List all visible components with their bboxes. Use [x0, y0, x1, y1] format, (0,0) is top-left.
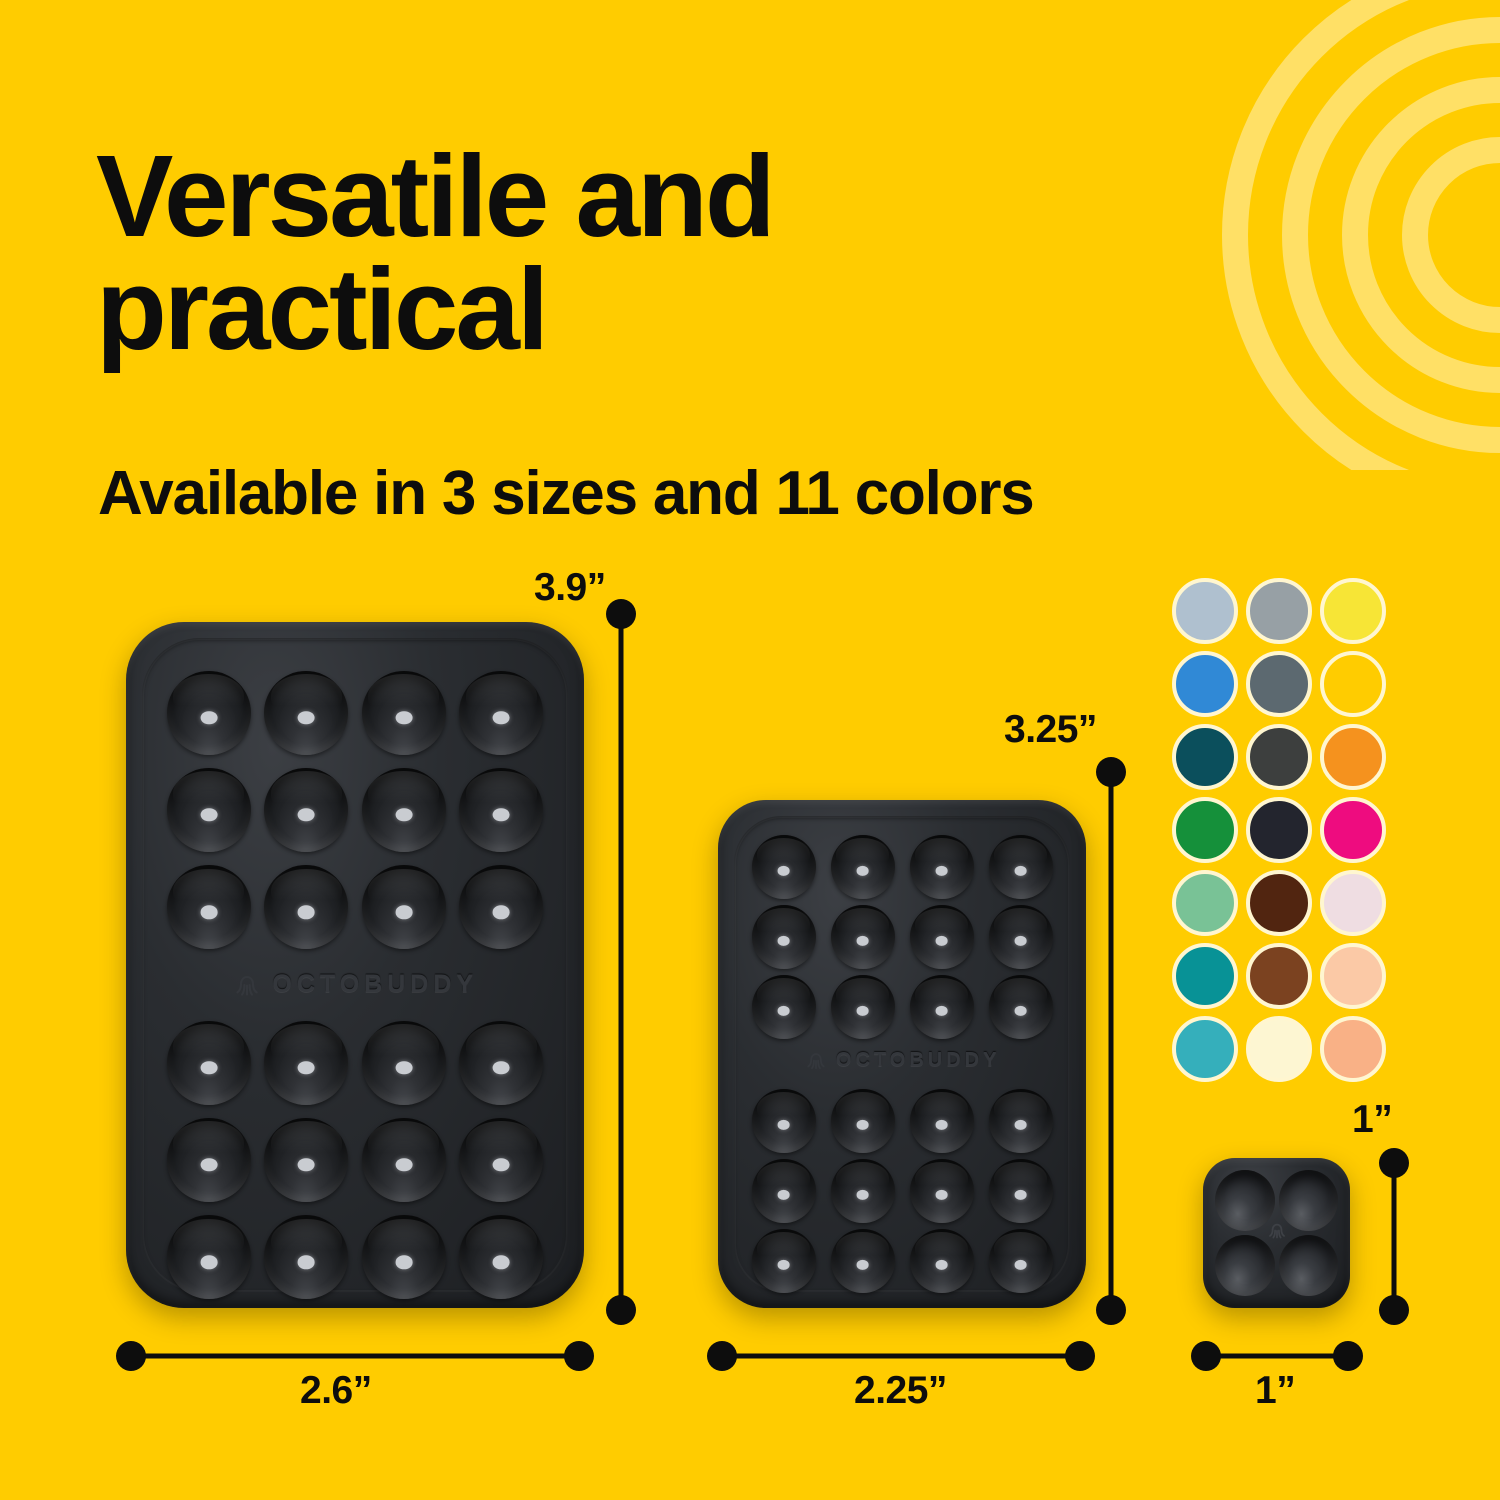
suction-cup	[362, 1118, 446, 1202]
cup-highlight-dot	[935, 1190, 948, 1200]
suction-cup	[264, 1215, 348, 1299]
suction-cup	[910, 835, 974, 899]
dimension-endpoint	[564, 1341, 594, 1371]
cup-highlight-dot	[1014, 1260, 1027, 1270]
suction-cup	[264, 1021, 348, 1105]
cup-highlight-dot	[856, 1260, 869, 1270]
suction-dome	[1215, 1170, 1275, 1231]
cup-highlight-dot	[200, 1256, 217, 1269]
suction-cup	[264, 671, 348, 755]
color-swatch-grid	[1172, 578, 1386, 1082]
cup-highlight-dot	[395, 1256, 412, 1269]
cup-highlight-dot	[298, 1061, 315, 1074]
cup-highlight-dot	[395, 1158, 412, 1171]
title-line-2: practical	[96, 253, 1276, 366]
suction-cup	[167, 768, 251, 852]
color-swatch-turquoise[interactable]	[1172, 1016, 1238, 1082]
large-suction-pad: OCTOBUDDY	[126, 622, 584, 1308]
suction-cup	[989, 975, 1053, 1039]
cup-highlight-dot	[493, 1061, 510, 1074]
suction-cup	[459, 1021, 543, 1105]
dimension-endpoint	[1065, 1341, 1095, 1371]
suction-cup	[752, 835, 816, 899]
cup-highlight-dot	[395, 711, 412, 724]
cup-highlight-dot	[493, 808, 510, 821]
suction-cup	[362, 1215, 446, 1299]
suction-cup	[831, 1089, 895, 1153]
suction-dome	[1279, 1235, 1339, 1296]
dimension-endpoint	[1379, 1148, 1409, 1178]
large-pad-height-dimension	[606, 614, 636, 1310]
title-line-1: Versatile and	[96, 140, 1276, 253]
large-pad-width-label: 2.6”	[300, 1369, 372, 1413]
color-swatch-near-black[interactable]	[1246, 797, 1312, 863]
suction-cup	[264, 865, 348, 949]
cup-highlight-dot	[777, 936, 790, 946]
dimension-bar	[619, 614, 624, 1310]
small-pad-height-dimension	[1379, 1163, 1409, 1310]
medium-suction-pad: OCTOBUDDY	[718, 800, 1086, 1308]
cup-highlight-dot	[777, 1260, 790, 1270]
cup-highlight-dot	[200, 1158, 217, 1171]
color-swatch-peach[interactable]	[1320, 1016, 1386, 1082]
suction-dome	[1215, 1235, 1275, 1296]
dimension-endpoint	[116, 1341, 146, 1371]
cup-highlight-dot	[200, 808, 217, 821]
suction-cup	[459, 1215, 543, 1299]
dimension-endpoint	[1333, 1341, 1363, 1371]
dimension-endpoint	[1379, 1295, 1409, 1325]
color-swatch-grey[interactable]	[1246, 578, 1312, 644]
cup-highlight-dot	[298, 906, 315, 919]
color-swatch-mint-green[interactable]	[1172, 870, 1238, 936]
suction-cup	[989, 905, 1053, 969]
dimension-endpoint	[606, 599, 636, 629]
arc-ring-2	[1402, 137, 1500, 333]
cup-highlight-dot	[777, 1120, 790, 1130]
cup-highlight-dot	[1014, 1006, 1027, 1016]
cup-highlight-dot	[200, 1061, 217, 1074]
cup-highlight-dot	[200, 906, 217, 919]
medium-pad-cup-grid-top	[744, 832, 1060, 1042]
cup-highlight-dot	[1014, 1190, 1027, 1200]
color-swatch-blue[interactable]	[1172, 651, 1238, 717]
medium-pad-width-label: 2.25”	[854, 1369, 947, 1413]
suction-cup	[910, 975, 974, 1039]
suction-cup	[910, 1229, 974, 1293]
cup-highlight-dot	[298, 1158, 315, 1171]
suction-cup	[362, 671, 446, 755]
cup-highlight-dot	[935, 1260, 948, 1270]
dimension-bar	[722, 1354, 1080, 1359]
suction-cup	[362, 865, 446, 949]
dimension-endpoint	[1191, 1341, 1221, 1371]
suction-cup	[910, 1089, 974, 1153]
small-suction-pad	[1203, 1158, 1350, 1308]
suction-cup	[910, 1159, 974, 1223]
color-swatch-teal-dark[interactable]	[1172, 724, 1238, 790]
cup-highlight-dot	[1014, 1120, 1027, 1130]
large-pad-cup-grid-bottom	[160, 1014, 550, 1306]
suction-cup	[831, 975, 895, 1039]
small-pad-dome-grid	[1215, 1170, 1338, 1296]
cup-highlight-dot	[935, 1120, 948, 1130]
cup-highlight-dot	[298, 711, 315, 724]
cup-highlight-dot	[493, 1158, 510, 1171]
cup-highlight-dot	[856, 1190, 869, 1200]
color-swatch-magenta[interactable]	[1320, 797, 1386, 863]
color-swatch-blush-white[interactable]	[1320, 870, 1386, 936]
color-swatch-teal[interactable]	[1172, 943, 1238, 1009]
arc-ring-4	[1282, 17, 1500, 453]
color-swatch-bright-yellow[interactable]	[1320, 578, 1386, 644]
color-swatch-cream[interactable]	[1246, 1016, 1312, 1082]
suction-cup	[752, 905, 816, 969]
medium-pad-height-label: 3.25”	[1004, 708, 1097, 752]
cup-highlight-dot	[395, 1061, 412, 1074]
suction-cup	[167, 671, 251, 755]
suction-cup	[831, 1159, 895, 1223]
cup-highlight-dot	[1014, 866, 1027, 876]
suction-cup	[752, 975, 816, 1039]
suction-cup	[459, 865, 543, 949]
cup-highlight-dot	[935, 1006, 948, 1016]
cup-highlight-dot	[935, 866, 948, 876]
cup-highlight-dot	[777, 866, 790, 876]
suction-cup	[167, 1118, 251, 1202]
large-pad-width-dimension	[131, 1341, 579, 1371]
color-swatch-dark-brown[interactable]	[1246, 870, 1312, 936]
color-swatch-peach-light[interactable]	[1320, 943, 1386, 1009]
cup-highlight-dot	[493, 1256, 510, 1269]
cup-highlight-dot	[493, 906, 510, 919]
suction-cup	[989, 1229, 1053, 1293]
cup-highlight-dot	[298, 808, 315, 821]
infographic-canvas: Versatile and practical Available in 3 s…	[0, 0, 1500, 1500]
suction-cup	[910, 905, 974, 969]
medium-pad-width-dimension	[722, 1341, 1080, 1371]
color-swatch-light-blue-grey[interactable]	[1172, 578, 1238, 644]
suction-cup	[459, 768, 543, 852]
cup-highlight-dot	[856, 866, 869, 876]
dimension-endpoint	[606, 1295, 636, 1325]
large-pad-cup-grid-top	[160, 664, 550, 956]
suction-cup	[264, 768, 348, 852]
large-pad-height-label: 3.9”	[534, 566, 606, 610]
suction-cup	[362, 1021, 446, 1105]
suction-cup	[264, 1118, 348, 1202]
arc-ring-1	[1455, 190, 1500, 280]
color-swatch-brown[interactable]	[1246, 943, 1312, 1009]
suction-cup	[362, 768, 446, 852]
cup-highlight-dot	[856, 1006, 869, 1016]
suction-cup	[989, 1089, 1053, 1153]
color-swatch-charcoal[interactable]	[1246, 724, 1312, 790]
suction-cup	[459, 671, 543, 755]
suction-cup	[831, 905, 895, 969]
suction-cup	[752, 1229, 816, 1293]
suction-cup	[167, 865, 251, 949]
suction-cup	[167, 1021, 251, 1105]
color-swatch-slate-grey[interactable]	[1246, 651, 1312, 717]
small-pad-height-label: 1”	[1352, 1098, 1392, 1142]
cup-highlight-dot	[777, 1006, 790, 1016]
cup-highlight-dot	[395, 906, 412, 919]
dimension-endpoint	[1096, 1295, 1126, 1325]
medium-pad-height-dimension	[1096, 772, 1126, 1310]
cup-highlight-dot	[777, 1190, 790, 1200]
small-pad-width-label: 1”	[1255, 1369, 1295, 1413]
suction-cup	[989, 835, 1053, 899]
suction-cup	[752, 1159, 816, 1223]
dimension-bar	[131, 1354, 579, 1359]
dimension-bar	[1392, 1163, 1397, 1310]
cup-highlight-dot	[935, 936, 948, 946]
suction-cup	[831, 1229, 895, 1293]
cup-highlight-dot	[856, 1120, 869, 1130]
suction-dome	[1279, 1170, 1339, 1231]
cup-highlight-dot	[395, 808, 412, 821]
cup-highlight-dot	[493, 711, 510, 724]
color-swatch-pale-yellow[interactable]	[1320, 651, 1386, 717]
cup-highlight-dot	[200, 711, 217, 724]
dimension-bar	[1109, 772, 1114, 1310]
medium-pad-cup-grid-bottom	[744, 1086, 1060, 1296]
suction-cup	[752, 1089, 816, 1153]
suction-cup	[831, 835, 895, 899]
cup-highlight-dot	[298, 1256, 315, 1269]
dimension-endpoint	[707, 1341, 737, 1371]
suction-cup	[989, 1159, 1053, 1223]
page-subtitle: Available in 3 sizes and 11 colors	[98, 458, 1034, 529]
dimension-endpoint	[1096, 757, 1126, 787]
color-swatch-green[interactable]	[1172, 797, 1238, 863]
small-pad-width-dimension	[1206, 1341, 1348, 1371]
cup-highlight-dot	[1014, 936, 1027, 946]
dimension-bar	[1206, 1354, 1348, 1359]
suction-cup	[167, 1215, 251, 1299]
color-swatch-orange[interactable]	[1320, 724, 1386, 790]
arc-ring-3	[1342, 77, 1500, 393]
page-title: Versatile and practical	[96, 140, 1276, 365]
suction-cup	[459, 1118, 543, 1202]
cup-highlight-dot	[856, 936, 869, 946]
